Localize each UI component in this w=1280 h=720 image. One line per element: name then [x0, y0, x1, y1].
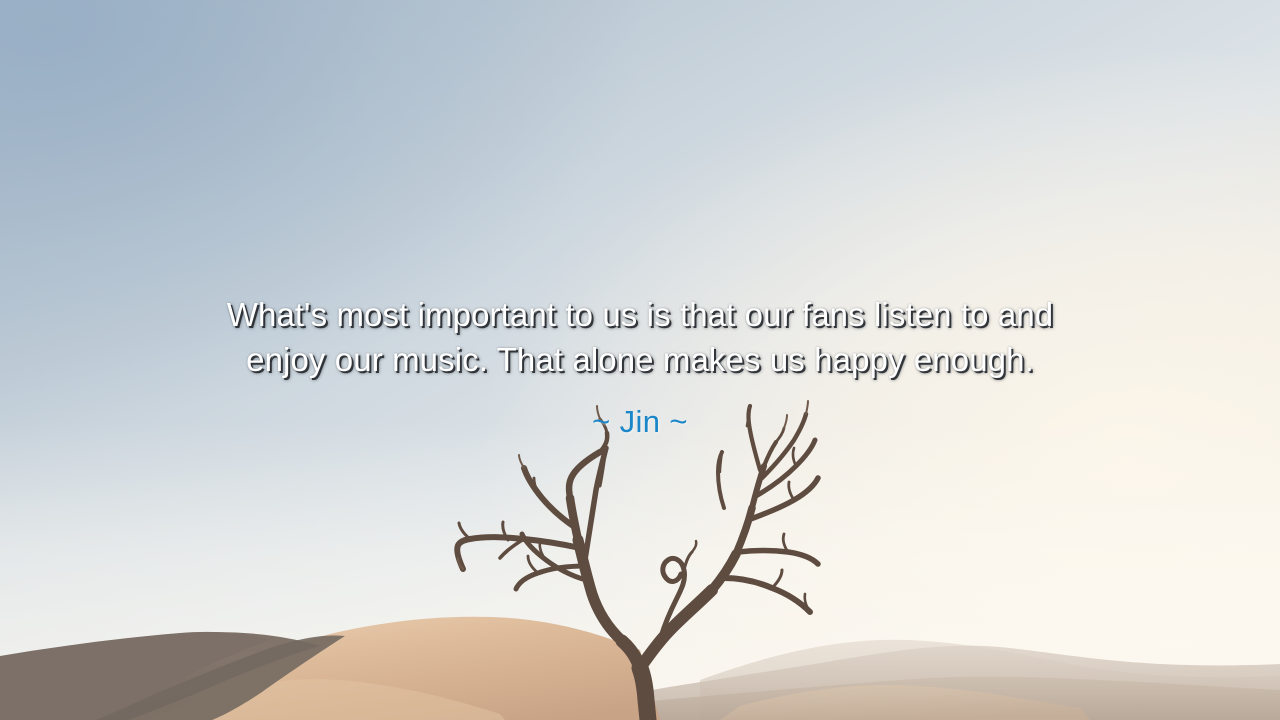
quote-image-canvas: What's most important to us is that our … — [0, 0, 1280, 720]
quote-text: What's most important to us is that our … — [64, 292, 1216, 382]
quote-author: ~ Jin ~ — [64, 403, 1216, 441]
dune-landscape — [0, 530, 1280, 720]
quote-overlay: What's most important to us is that our … — [0, 292, 1280, 441]
